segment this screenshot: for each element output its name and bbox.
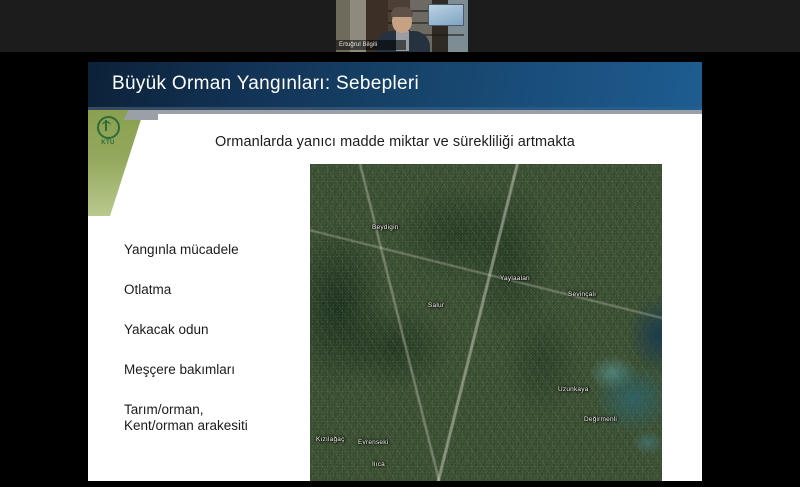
map-place-label: Salur xyxy=(428,302,444,309)
satellite-map-image: BeydiginYaylaalanSevinçalıSalurUzunkayaD… xyxy=(310,164,662,481)
map-roads xyxy=(310,164,662,481)
bullet-item: Otlatma xyxy=(124,282,324,298)
video-strip: Ertuğrul Bilgili xyxy=(0,0,800,52)
speaker-hair xyxy=(391,7,413,17)
map-place-label: Yaylaalan xyxy=(500,275,530,282)
bullet-item: Yangınla mücadele xyxy=(124,242,324,258)
map-place-label: Kızılağaç xyxy=(316,436,345,443)
participant-name-label: Ertuğrul Bilgili xyxy=(336,40,406,50)
title-underline xyxy=(88,110,702,114)
slide-title: Büyük Orman Yangınları: Sebepleri xyxy=(112,73,419,95)
map-place-label: Değirmenli xyxy=(584,416,617,423)
map-place-label: Sevinçalı xyxy=(568,291,596,298)
map-place-label: Beydigin xyxy=(372,224,399,231)
screen-root: Ertuğrul Bilgili Büyük Orman Yangınları:… xyxy=(0,0,800,487)
map-place-label: Evrenseki xyxy=(358,439,388,446)
map-place-label: Ilıca xyxy=(372,461,385,468)
bullet-item: Meşçere bakımları xyxy=(124,362,324,378)
background-monitor xyxy=(428,4,464,26)
bullet-item: Yakacak odun xyxy=(124,322,324,338)
map-place-label: Uzunkaya xyxy=(558,386,589,393)
slide-subtitle: Ormanlarda yanıcı madde miktar ve sürekl… xyxy=(88,134,702,150)
bullet-list: Yangınla mücadele Otlatma Yakacak odun M… xyxy=(124,242,324,434)
presentation-slide[interactable]: Büyük Orman Yangınları: Sebepleri KTU Or… xyxy=(88,62,702,481)
bullet-item: Tarım/orman, Kent/orman arakesiti xyxy=(124,402,324,434)
